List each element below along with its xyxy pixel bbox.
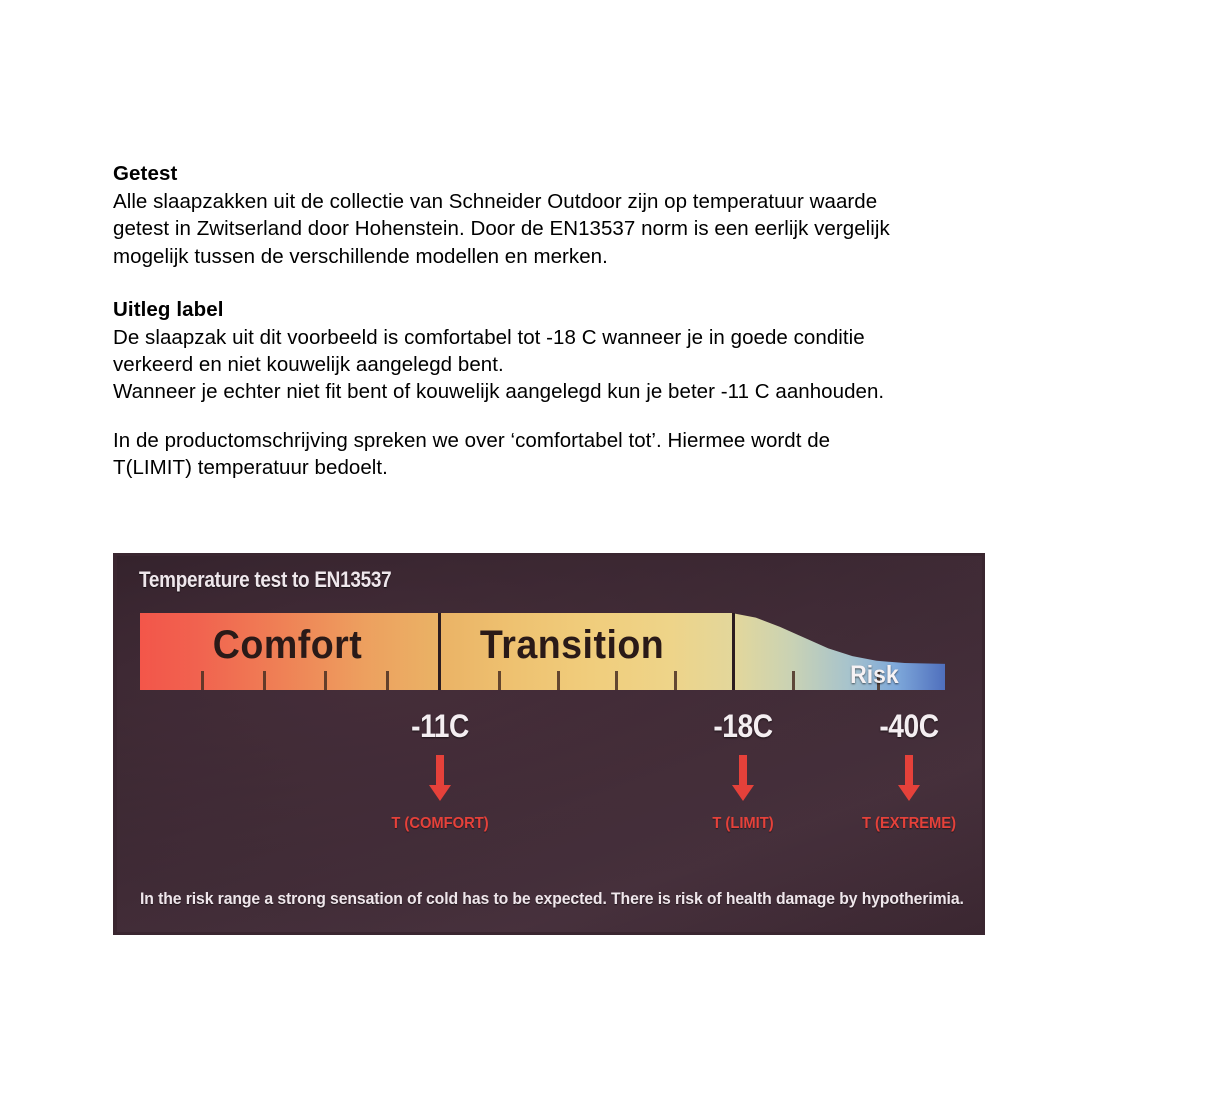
temperature-value: -40C — [856, 708, 962, 745]
zone-divider-comfort-transition — [438, 613, 441, 690]
scale-tick — [792, 671, 795, 690]
paragraph-line: Wanneer je echter niet fit bent of kouwe… — [113, 378, 993, 405]
down-arrow-icon — [897, 755, 921, 803]
section-uitleg-label: Uitleg label De slaapzak uit dit voorbee… — [113, 296, 993, 481]
label-graphic-footnote: In the risk range a strong sensation of … — [140, 890, 934, 909]
paragraph-line: getest in Zwitserland door Hohenstein. D… — [113, 215, 993, 242]
zone-label-transition: Transition — [480, 623, 664, 668]
paragraph-line: verkeerd en niet kouwelijk aangelegd ben… — [113, 351, 993, 378]
paragraph-line: T(LIMIT) temperatuur bedoelt. — [113, 454, 993, 481]
scale-tick — [615, 671, 618, 690]
paragraph-line: In de productomschrijving spreken we ove… — [113, 427, 993, 454]
temperature-marker-label: T (EXTREME) — [854, 815, 964, 833]
paragraph-blank-line — [113, 406, 993, 427]
zone-label-comfort: Comfort — [213, 623, 362, 668]
section-heading-uitleg-label: Uitleg label — [113, 296, 993, 323]
scale-tick — [201, 671, 204, 690]
temperature-marker-comfort: -11C T (COMFORT) — [380, 708, 500, 833]
scale-tick — [263, 671, 266, 690]
temperature-marker-label: T (COMFORT) — [385, 815, 495, 833]
scale-tick — [386, 671, 389, 690]
paragraph-line: De slaapzak uit dit voorbeeld is comfort… — [113, 324, 993, 351]
section-heading-getest: Getest — [113, 160, 993, 187]
section-getest: Getest Alle slaapzakken uit de collectie… — [113, 160, 993, 270]
paragraph-line: Alle slaapzakken uit de collectie van Sc… — [113, 188, 993, 215]
section-paragraph-uitleg-label: De slaapzak uit dit voorbeeld is comfort… — [113, 324, 993, 481]
scale-tick — [557, 671, 560, 690]
scale-tick — [674, 671, 677, 690]
temperature-marker-limit: -18C T (LIMIT) — [683, 708, 803, 833]
zone-divider-transition-risk — [732, 613, 735, 690]
zone-label-risk: Risk — [851, 661, 900, 690]
down-arrow-icon — [428, 755, 452, 803]
paragraph-line: mogelijk tussen de verschillende modelle… — [113, 243, 993, 270]
label-graphic-title: Temperature test to EN13537 — [139, 567, 391, 593]
scale-tick — [324, 671, 327, 690]
temperature-value: -18C — [690, 708, 796, 745]
en13537-label-graphic: Temperature test to EN13537 Comfort Tran… — [113, 553, 985, 935]
temperature-value: -11C — [387, 708, 493, 745]
document-body: Getest Alle slaapzakken uit de collectie… — [113, 160, 993, 481]
down-arrow-icon — [731, 755, 755, 803]
section-paragraph-getest: Alle slaapzakken uit de collectie van Sc… — [113, 188, 993, 270]
scale-tick — [498, 671, 501, 690]
temperature-marker-label: T (LIMIT) — [688, 815, 798, 833]
temperature-marker-extreme: -40C T (EXTREME) — [849, 708, 969, 833]
temperature-scale-bar: Comfort Transition Risk — [140, 613, 945, 690]
